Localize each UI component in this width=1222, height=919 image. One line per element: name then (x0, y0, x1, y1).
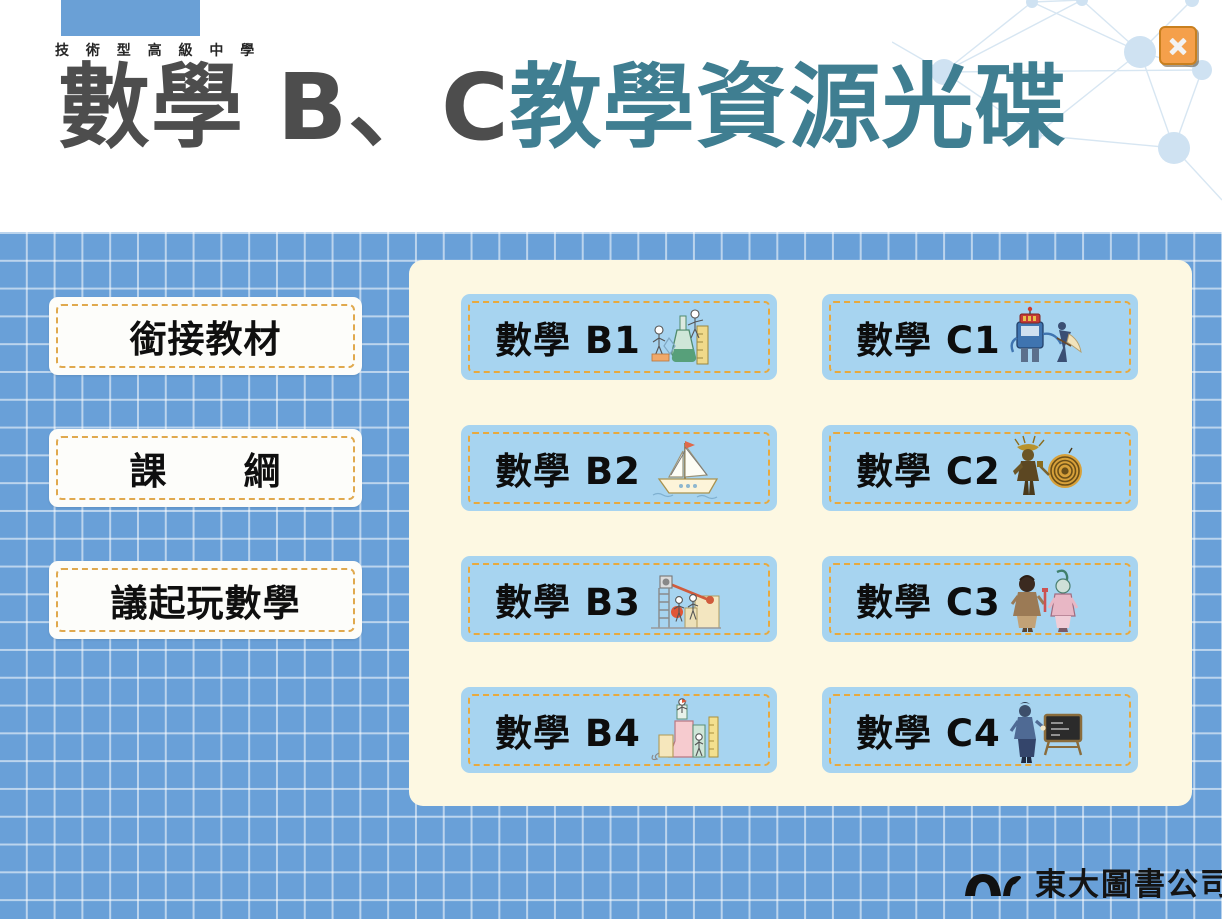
sidebar-item-label: 銜接教材 (130, 309, 282, 363)
course-button-b1[interactable]: 數學 B1 (461, 294, 777, 380)
sidebar-item-label: 議起玩數學 (111, 573, 301, 627)
teacher-blackboard-icon (1007, 697, 1085, 763)
close-icon (1168, 36, 1188, 56)
construction-crane-icon (647, 566, 725, 632)
course-column-b: 數學 B1 (461, 294, 777, 818)
course-panel: 數學 B1 (409, 260, 1192, 806)
course-button-b2[interactable]: 數學 B2 (461, 425, 777, 511)
header-bar: 技 術 型 高 級 中 學 數學 B、C教學資源光碟 (0, 0, 1222, 232)
sidebar-item-label: 課 綱 (130, 441, 282, 495)
company-name: 東大圖書公司 (1035, 859, 1222, 904)
course-button-label: 數學 C4 (856, 703, 1001, 757)
course-button-label: 數學 B4 (495, 703, 641, 757)
sidebar-item-curriculum-guidelines[interactable]: 課 綱 (49, 429, 362, 507)
course-button-b3[interactable]: 數學 B3 (461, 556, 777, 642)
robot-icon (1007, 304, 1085, 370)
course-button-c2[interactable]: 數學 C2 (822, 425, 1138, 511)
page-title-teal: 教學資源光碟 (510, 54, 1068, 161)
course-button-label: 數學 B3 (495, 572, 641, 626)
course-button-label: 數學 C2 (856, 441, 1001, 495)
page-title: 數學 B、C教學資源光碟 (58, 62, 1068, 154)
application-root: 技 術 型 高 級 中 學 數學 B、C教學資源光碟 銜接教材 課 綱 議起玩數… (0, 0, 1222, 919)
page-title-dark: 數學 B、C (58, 54, 510, 161)
course-button-label: 數學 B1 (495, 310, 641, 364)
course-button-c1[interactable]: 數學 C1 (822, 294, 1138, 380)
close-button[interactable] (1159, 26, 1197, 65)
lab-experiment-icon (647, 304, 725, 370)
course-button-b4[interactable]: 數學 B4 (461, 687, 777, 773)
warrior-target-icon (1007, 435, 1085, 501)
brand-chip (61, 0, 200, 36)
footer-logo: 東大圖書公司 (963, 859, 1222, 904)
mountain-arch-logo-icon (963, 866, 1023, 898)
sidebar: 銜接教材 課 綱 議起玩數學 (49, 297, 362, 693)
course-button-label: 數學 C1 (856, 310, 1001, 364)
two-characters-icon (1007, 566, 1085, 632)
sidebar-item-play-math-together[interactable]: 議起玩數學 (49, 561, 362, 639)
course-button-c3[interactable]: 數學 C3 (822, 556, 1138, 642)
course-column-c: 數學 C1 (822, 294, 1138, 818)
course-button-label: 數學 C3 (856, 572, 1001, 626)
course-button-c4[interactable]: 數學 C4 (822, 687, 1138, 773)
course-button-label: 數學 B2 (495, 441, 641, 495)
sidebar-item-bridging-materials[interactable]: 銜接教材 (49, 297, 362, 375)
chemistry-flasks-icon (647, 697, 725, 763)
sailboat-icon (647, 435, 725, 501)
